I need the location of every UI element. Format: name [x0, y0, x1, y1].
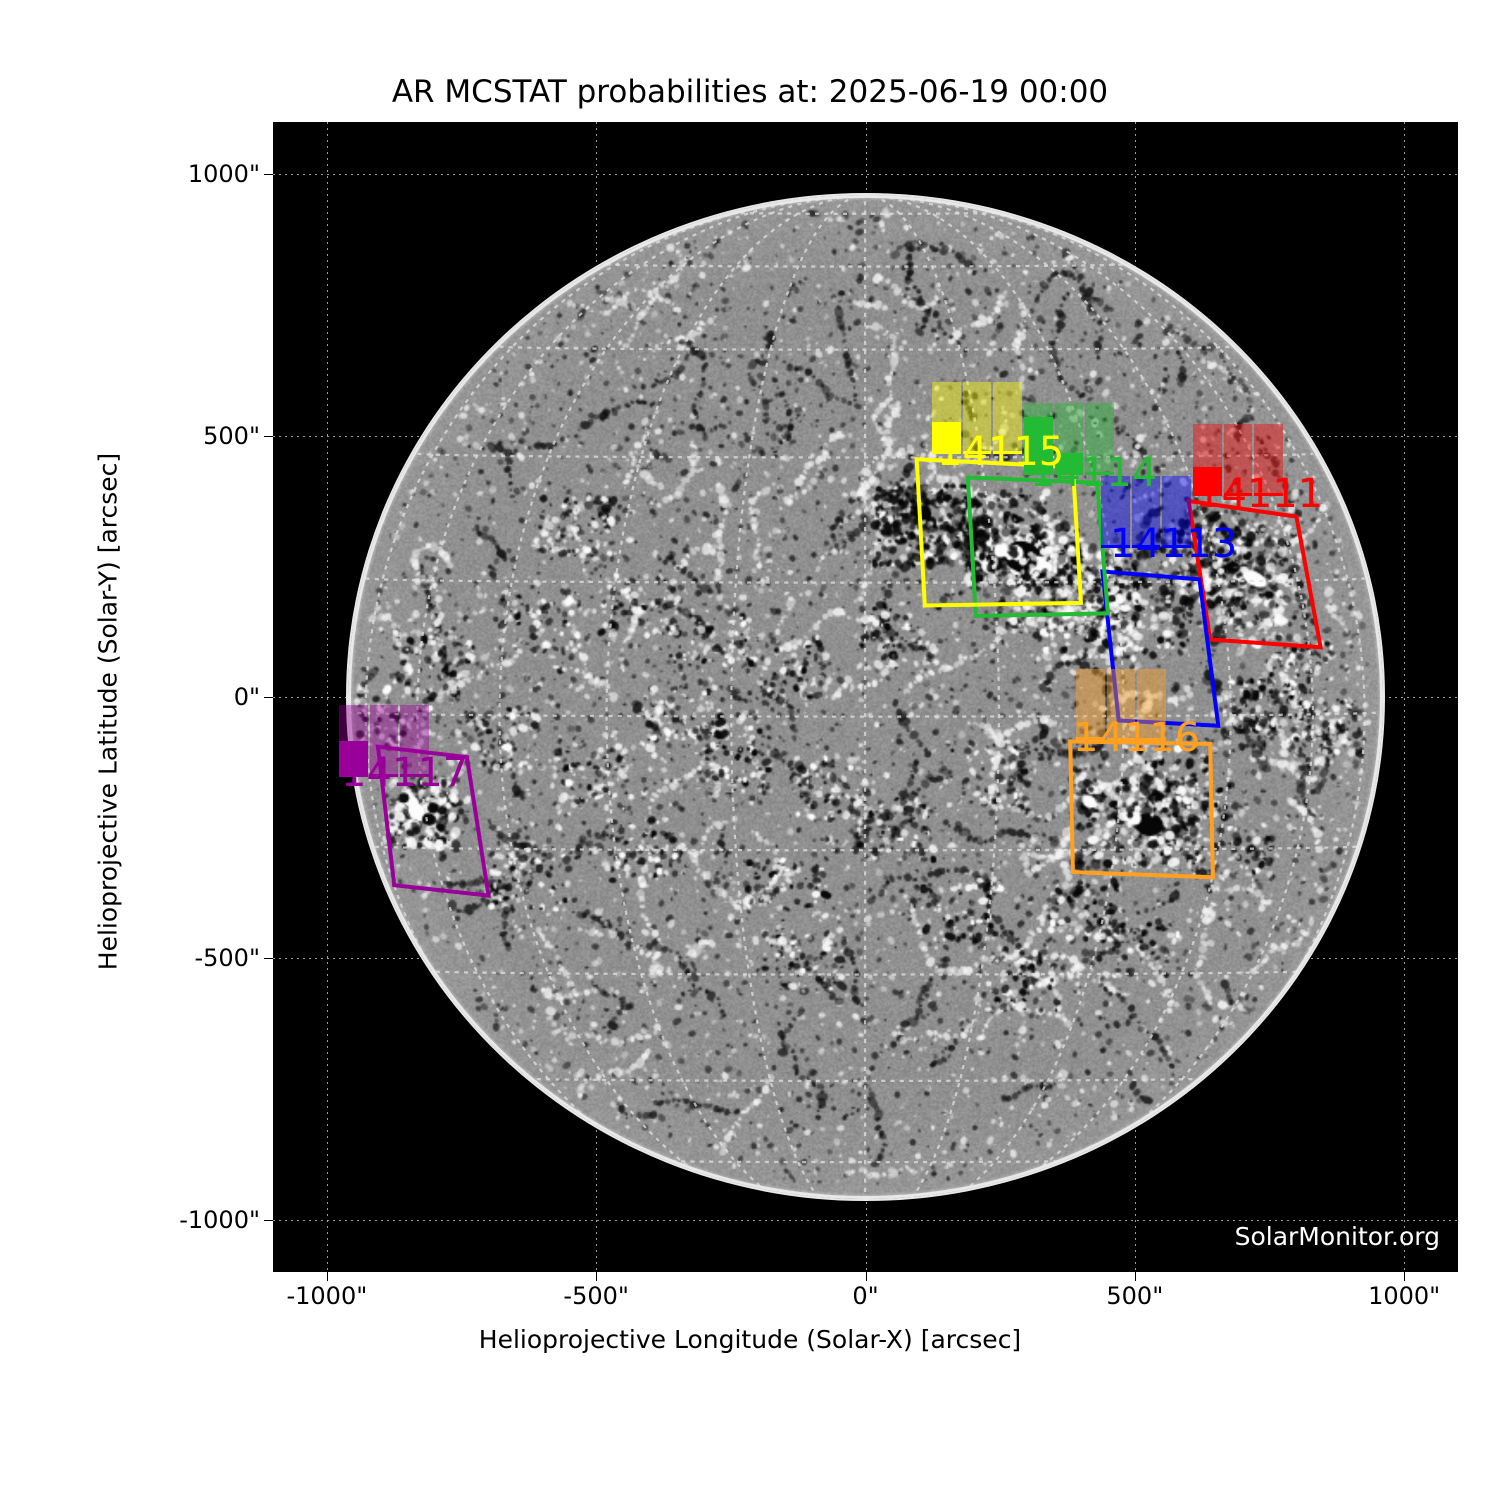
y-tick-mark [264, 436, 273, 437]
y-tick-label: 0" [234, 683, 260, 711]
x-tick-mark [596, 1272, 597, 1281]
y-tick-mark [264, 958, 273, 959]
y-tick-mark [264, 697, 273, 698]
y-tick-label: 500" [203, 422, 260, 450]
y-tick-mark [264, 174, 273, 175]
x-tick-label: -1000" [286, 1282, 367, 1310]
ar-bounding-box-14116[interactable] [1070, 741, 1213, 877]
ar-bounding-box-14114[interactable] [968, 478, 1108, 617]
x-tick-label: 500" [1106, 1282, 1163, 1310]
y-axis-label: Helioprojective Latitude (Solar-Y) [arcs… [94, 212, 123, 1212]
x-tick-label: 0" [852, 1282, 878, 1310]
y-tick-label: 1000" [188, 160, 260, 188]
watermark: SolarMonitor.org [1235, 1222, 1440, 1251]
x-tick-mark [327, 1272, 328, 1281]
ar-label-14116: 14116 [1073, 718, 1200, 758]
x-tick-label: -500" [563, 1282, 629, 1310]
y-tick-mark [264, 1220, 273, 1221]
ar-label-14115: 14115 [937, 432, 1064, 472]
x-tick-label: 1000" [1368, 1282, 1440, 1310]
ar-label-14113: 14113 [1110, 524, 1237, 564]
plot-area: 141111411314114141151411614117 SolarMoni… [273, 122, 1458, 1272]
y-tick-label: -500" [194, 944, 260, 972]
ar-label-14117: 14117 [341, 753, 468, 793]
solar-magnetogram-figure: AR MCSTAT probabilities at: 2025-06-19 0… [0, 0, 1500, 1500]
x-tick-mark [866, 1272, 867, 1281]
x-tick-mark [1404, 1272, 1405, 1281]
y-tick-label: -1000" [179, 1206, 260, 1234]
active-region-outlines [273, 122, 1458, 1272]
x-tick-mark [1135, 1272, 1136, 1281]
ar-label-14111: 14111 [1196, 474, 1323, 514]
chart-title: AR MCSTAT probabilities at: 2025-06-19 0… [0, 74, 1500, 110]
x-axis-label: Helioprojective Longitude (Solar-X) [arc… [0, 1325, 1500, 1354]
